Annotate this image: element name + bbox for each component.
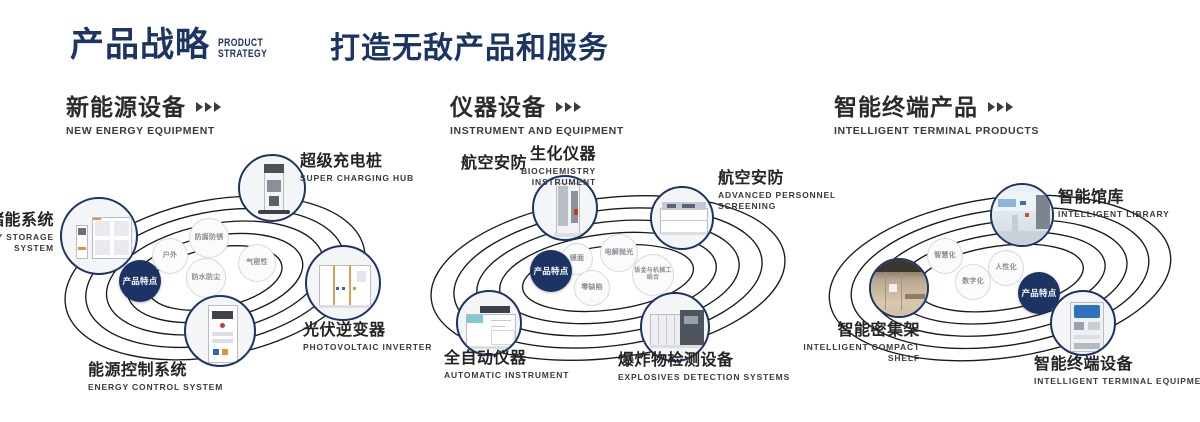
caption-intelligent-library: 智能馆库 INTELLIGENT LIBRARY xyxy=(1058,189,1170,220)
product-node-personnel-screening[interactable] xyxy=(650,186,714,250)
caption-en-energy-storage: ENERGY STORAGESYSTEM xyxy=(0,232,54,253)
section-title-en-new-energy: NEW ENERGY EQUIPMENT xyxy=(66,125,221,137)
orbit-cluster-intelligent-terminal: 智慧化 数字化 人性化 产品特点 智能馆库 INTELLIGENT LIBRAR… xyxy=(800,150,1200,410)
core-bubble-product-features: 产品特点 xyxy=(530,250,572,292)
page-title-english: PRODUCT STRATEGY xyxy=(218,38,267,60)
pv-inverter-photo xyxy=(307,247,379,319)
section-title-cn-new-energy: 新能源设备 xyxy=(66,94,186,120)
section-title-cn-intelligent: 智能终端产品 xyxy=(834,94,978,120)
terminal-equipment-photo xyxy=(1052,292,1114,354)
caption-energy-storage: 储能系统 ENERGY STORAGESYSTEM xyxy=(0,212,54,254)
product-node-automatic-instrument[interactable] xyxy=(456,290,522,356)
chevron-right-icon xyxy=(988,102,1013,112)
section-header-instrument: 仪器设备 INSTRUMENT AND EQUIPMENT xyxy=(450,94,624,137)
product-node-terminal-equipment[interactable] xyxy=(1050,290,1116,356)
compact-shelf-photo xyxy=(871,260,927,316)
caption-biochemistry: 生化仪器 BIOCHEMISTRYINSTRUMENT xyxy=(426,146,596,188)
feature-bubble-corrosion: 防腐防锈 xyxy=(189,218,229,258)
explosives-detection-photo xyxy=(642,294,708,360)
automatic-instrument-photo xyxy=(458,292,520,354)
feature-bubble-smart: 智慧化 xyxy=(927,238,963,274)
feature-bubble-airtight: 气密性 xyxy=(238,244,276,282)
product-node-compact-shelf[interactable] xyxy=(869,258,929,318)
caption-energy-control: 能源控制系统 ENERGY CONTROL SYSTEM xyxy=(88,362,223,393)
caption-en-biochemistry: BIOCHEMISTRYINSTRUMENT xyxy=(426,166,596,187)
feature-bubble-electropolish: 电解抛光 xyxy=(600,234,638,272)
feature-bubble-digital: 数字化 xyxy=(955,264,991,300)
section-header-intelligent-terminal: 智能终端产品 INTELLIGENT TERMINAL PRODUCTS xyxy=(834,94,1039,137)
section-header-new-energy: 新能源设备 NEW ENERGY EQUIPMENT xyxy=(66,94,221,137)
energy-storage-photo xyxy=(62,199,136,273)
section-title-cn-instrument: 仪器设备 xyxy=(450,94,546,120)
caption-terminal-equipment: 智能终端设备 INTELLIGENT TERMINAL EQUIPMENT xyxy=(1034,356,1200,387)
product-node-charging-hub[interactable] xyxy=(238,154,306,222)
caption-en-compact-shelf: INTELLIGENT COMPACTSHELF xyxy=(760,342,920,363)
orbit-cluster-new-energy: 防腐防锈 户外 气密性 防水防尘 产品特点 储能系统 E xyxy=(0,150,420,410)
caption-automatic-instrument: 全自动仪器 AUTOMATIC INSTRUMENT xyxy=(444,350,569,381)
product-strategy-infographic: 产品战略 PRODUCT STRATEGY 打造无敌产品和服务 新能源设备 NE… xyxy=(0,0,1200,422)
caption-compact-shelf: 智能密集架 INTELLIGENT COMPACTSHELF xyxy=(760,322,920,364)
product-node-energy-storage[interactable] xyxy=(60,197,138,275)
page-header: 产品战略 PRODUCT STRATEGY xyxy=(70,28,281,62)
product-node-pv-inverter[interactable] xyxy=(305,245,381,321)
chevron-right-icon xyxy=(556,102,581,112)
section-title-en-intelligent: INTELLIGENT TERMINAL PRODUCTS xyxy=(834,125,1039,137)
product-node-energy-control[interactable] xyxy=(184,295,256,367)
feature-bubble-waterproof: 防水防尘 xyxy=(186,258,226,298)
brand-en-line2: STRATEGY xyxy=(218,49,267,60)
orbit-cluster-instrument: 镜面 电解抛光 钣金与机械工结合 零缺陷 产品特点 航空安防 生化仪器 BIOC… xyxy=(396,150,816,410)
section-title-en-instrument: INSTRUMENT AND EQUIPMENT xyxy=(450,125,624,137)
feature-bubble-sheetmetal: 钣金与机械工结合 xyxy=(632,254,674,296)
page-title: 产品战略 xyxy=(70,28,210,62)
feature-bubble-humanized: 人性化 xyxy=(988,250,1024,286)
personnel-screening-photo xyxy=(652,188,712,248)
feature-bubble-zero-defect: 零缺陷 xyxy=(574,270,610,306)
energy-control-photo xyxy=(186,297,254,365)
product-node-intelligent-library[interactable] xyxy=(990,183,1054,247)
intelligent-library-photo xyxy=(992,185,1052,245)
chevron-right-icon xyxy=(196,102,221,112)
charging-hub-photo xyxy=(240,156,304,220)
headline: 打造无敌产品和服务 xyxy=(330,32,609,65)
